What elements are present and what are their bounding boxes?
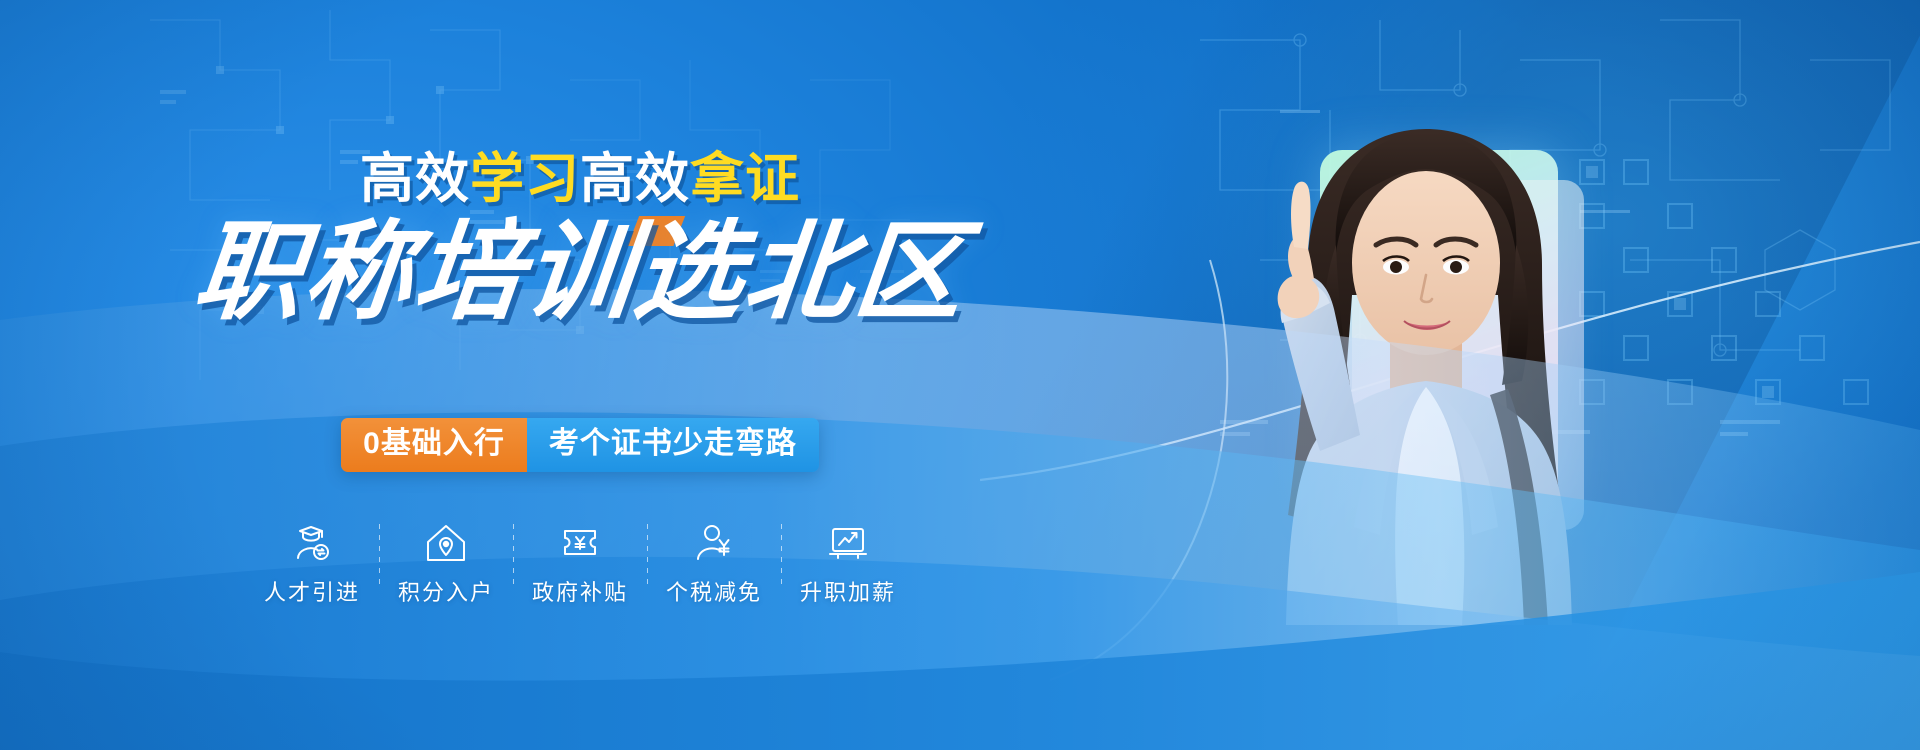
promo-banner: 高效学习高效拿证 职称培训选北区 0基础入行 考个证书少走弯路 <box>0 0 1920 750</box>
background-vignette <box>0 0 1920 750</box>
